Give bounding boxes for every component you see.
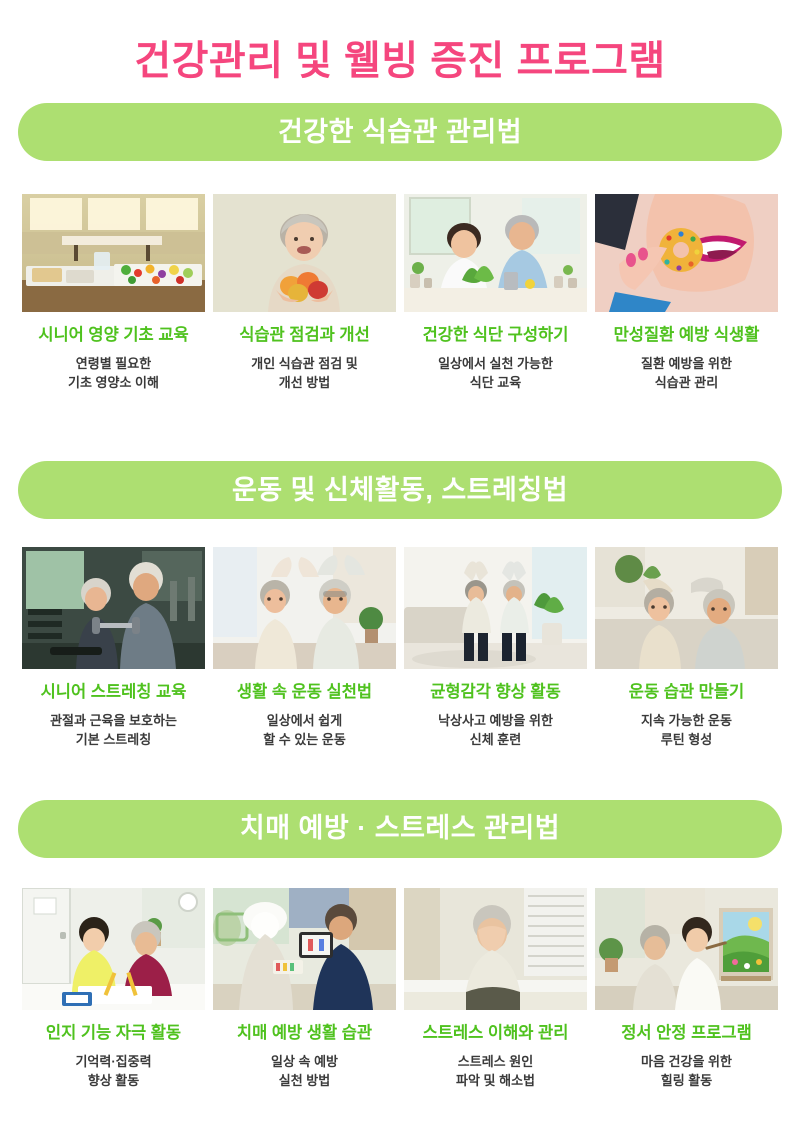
card-desc-line2: 실천 방법	[279, 1073, 330, 1088]
stressed-senior-man-head-in-hands-photo	[404, 888, 587, 1010]
section-banner-3: 치매 예방 · 스트레스 관리법	[18, 800, 782, 858]
card-3-2[interactable]: 치매 예방 생활 습관 일상 속 예방 실천 방법	[213, 888, 396, 1090]
card-title: 식습관 점검과 개선	[239, 326, 370, 346]
card-desc: 지속 가능한 운동 루틴 형성	[641, 712, 732, 750]
section-banner-label-1: 건강한 식습관 관리법	[278, 119, 522, 146]
caregiver-cognitive-worksheet-photo	[22, 888, 205, 1010]
card-desc: 일상에서 쉽게 할 수 있는 운동	[263, 712, 346, 750]
card-desc-line2: 기초 영양소 이해	[68, 375, 159, 390]
card-desc-line1: 일상에서 쉽게	[267, 713, 342, 728]
card-desc: 스트레스 원인 파악 및 해소법	[456, 1053, 535, 1091]
senior-couple-dumbbell-gym-photo	[22, 547, 205, 669]
card-desc: 일상 속 예방 실천 방법	[271, 1053, 338, 1091]
card-desc-line2: 파악 및 해소법	[456, 1073, 535, 1088]
card-desc-line2: 식습관 관리	[655, 375, 718, 390]
section-banner-label-3: 치매 예방 · 스트레스 관리법	[240, 815, 560, 842]
card-2-4[interactable]: 운동 습관 만들기 지속 가능한 운동 루틴 형성	[595, 547, 778, 749]
card-desc-line1: 스트레스 원인	[458, 1054, 533, 1069]
card-1-2[interactable]: 식습관 점검과 개선 개인 식습관 점검 및 개선 방법	[213, 194, 396, 392]
card-desc-line1: 기억력·집중력	[75, 1054, 151, 1069]
card-desc: 개인 식습관 점검 및 개선 방법	[251, 355, 358, 393]
card-3-4[interactable]: 정서 안정 프로그램 마음 건강을 위한 힐링 활동	[595, 888, 778, 1090]
section-banner-2: 운동 및 신체활동, 스트레칭법	[18, 461, 782, 519]
senior-woman-holding-fruit-photo	[213, 194, 396, 312]
card-title: 균형감각 향상 활동	[430, 683, 561, 703]
card-desc: 연령별 필요한 기초 영양소 이해	[68, 355, 159, 393]
card-desc-line1: 마음 건강을 위한	[641, 1054, 732, 1069]
senior-painting-art-therapy-photo	[595, 888, 778, 1010]
card-desc-line2: 향상 활동	[88, 1073, 139, 1088]
card-desc-line2: 개선 방법	[279, 375, 330, 390]
card-title: 스트레스 이해와 관리	[423, 1024, 569, 1044]
card-title: 인지 기능 자극 활동	[46, 1024, 181, 1044]
card-title: 운동 습관 만들기	[629, 683, 744, 703]
card-title: 정서 안정 프로그램	[621, 1024, 752, 1044]
card-3-1[interactable]: 인지 기능 자극 활동 기억력·집중력 향상 활동	[22, 888, 205, 1090]
card-desc-line2: 루틴 형성	[661, 732, 712, 747]
card-desc: 관절과 근육을 보호하는 기본 스트레칭	[50, 712, 177, 750]
card-desc-line2: 기본 스트레칭	[76, 732, 151, 747]
card-row-3: 인지 기능 자극 활동 기억력·집중력 향상 활동	[0, 888, 800, 1090]
card-2-3[interactable]: 균형감각 향상 활동 낙상사고 예방을 위한 신체 훈련	[404, 547, 587, 749]
card-desc-line1: 일상에서 실천 가능한	[438, 356, 553, 371]
card-desc: 질환 예방을 위한 식습관 관리	[641, 355, 732, 393]
card-title: 만성질환 예방 식생활	[614, 326, 760, 346]
card-desc-line1: 관절과 근육을 보호하는	[50, 713, 177, 728]
card-2-2[interactable]: 생활 속 운동 실천법 일상에서 쉽게 할 수 있는 운동	[213, 547, 396, 749]
cafeteria-meal-tray-photo	[22, 194, 205, 312]
card-desc-line2: 신체 훈련	[470, 732, 521, 747]
card-desc: 마음 건강을 위한 힐링 활동	[641, 1053, 732, 1091]
card-desc-line2: 식단 교육	[470, 375, 521, 390]
section-banner-1: 건강한 식습관 관리법	[18, 103, 782, 161]
card-title: 시니어 영양 기초 교육	[38, 326, 188, 346]
card-title: 시니어 스트레칭 교육	[41, 683, 187, 703]
card-1-4[interactable]: 만성질환 예방 식생활 질환 예방을 위한 식습관 관리	[595, 194, 778, 392]
card-row-2: 시니어 스트레칭 교육 관절과 근육을 보호하는 기본 스트레칭	[0, 547, 800, 749]
section-banner-label-2: 운동 및 신체활동, 스트레칭법	[232, 477, 568, 504]
senior-couple-neck-stretch-sofa-photo	[595, 547, 778, 669]
card-desc-line1: 질환 예방을 위한	[641, 356, 732, 371]
card-desc-line1: 낙상사고 예방을 위한	[438, 713, 553, 728]
card-desc-line1: 연령별 필요한	[76, 356, 151, 371]
card-desc-line1: 일상 속 예방	[271, 1054, 338, 1069]
card-desc-line1: 개인 식습관 점검 및	[251, 356, 358, 371]
card-desc: 일상에서 실천 가능한 식단 교육	[438, 355, 553, 393]
card-desc: 낙상사고 예방을 위한 신체 훈련	[438, 712, 553, 750]
woman-eating-candy-donut-photo	[595, 194, 778, 312]
card-desc-line2: 할 수 있는 운동	[263, 732, 346, 747]
senior-couple-cooking-vegetables-photo	[404, 194, 587, 312]
card-1-3[interactable]: 건강한 식단 구성하기 일상에서 실천 가능한 식단 교육	[404, 194, 587, 392]
card-desc-line2: 힐링 활동	[661, 1073, 712, 1088]
card-row-1: 시니어 영양 기초 교육 연령별 필요한 기초 영양소 이해	[0, 194, 800, 392]
poster-root: 건강관리 및 웰빙 증진 프로그램 건강한 식습관 관리법	[0, 0, 800, 1124]
card-title: 건강한 식단 구성하기	[423, 326, 569, 346]
card-title: 생활 속 운동 실천법	[237, 683, 372, 703]
senior-couple-standing-balance-exercise-photo	[404, 547, 587, 669]
card-3-3[interactable]: 스트레스 이해와 관리 스트레스 원인 파악 및 해소법	[404, 888, 587, 1090]
page-title: 건강관리 및 웰빙 증진 프로그램	[0, 0, 800, 82]
card-desc: 기억력·집중력 향상 활동	[75, 1053, 151, 1091]
card-desc-line1: 지속 가능한 운동	[641, 713, 732, 728]
senior-couple-arms-raised-stretch-photo	[213, 547, 396, 669]
senior-tablet-screening-outdoor-photo	[213, 888, 396, 1010]
card-title: 치매 예방 생활 습관	[237, 1024, 372, 1044]
card-2-1[interactable]: 시니어 스트레칭 교육 관절과 근육을 보호하는 기본 스트레칭	[22, 547, 205, 749]
card-1-1[interactable]: 시니어 영양 기초 교육 연령별 필요한 기초 영양소 이해	[22, 194, 205, 392]
